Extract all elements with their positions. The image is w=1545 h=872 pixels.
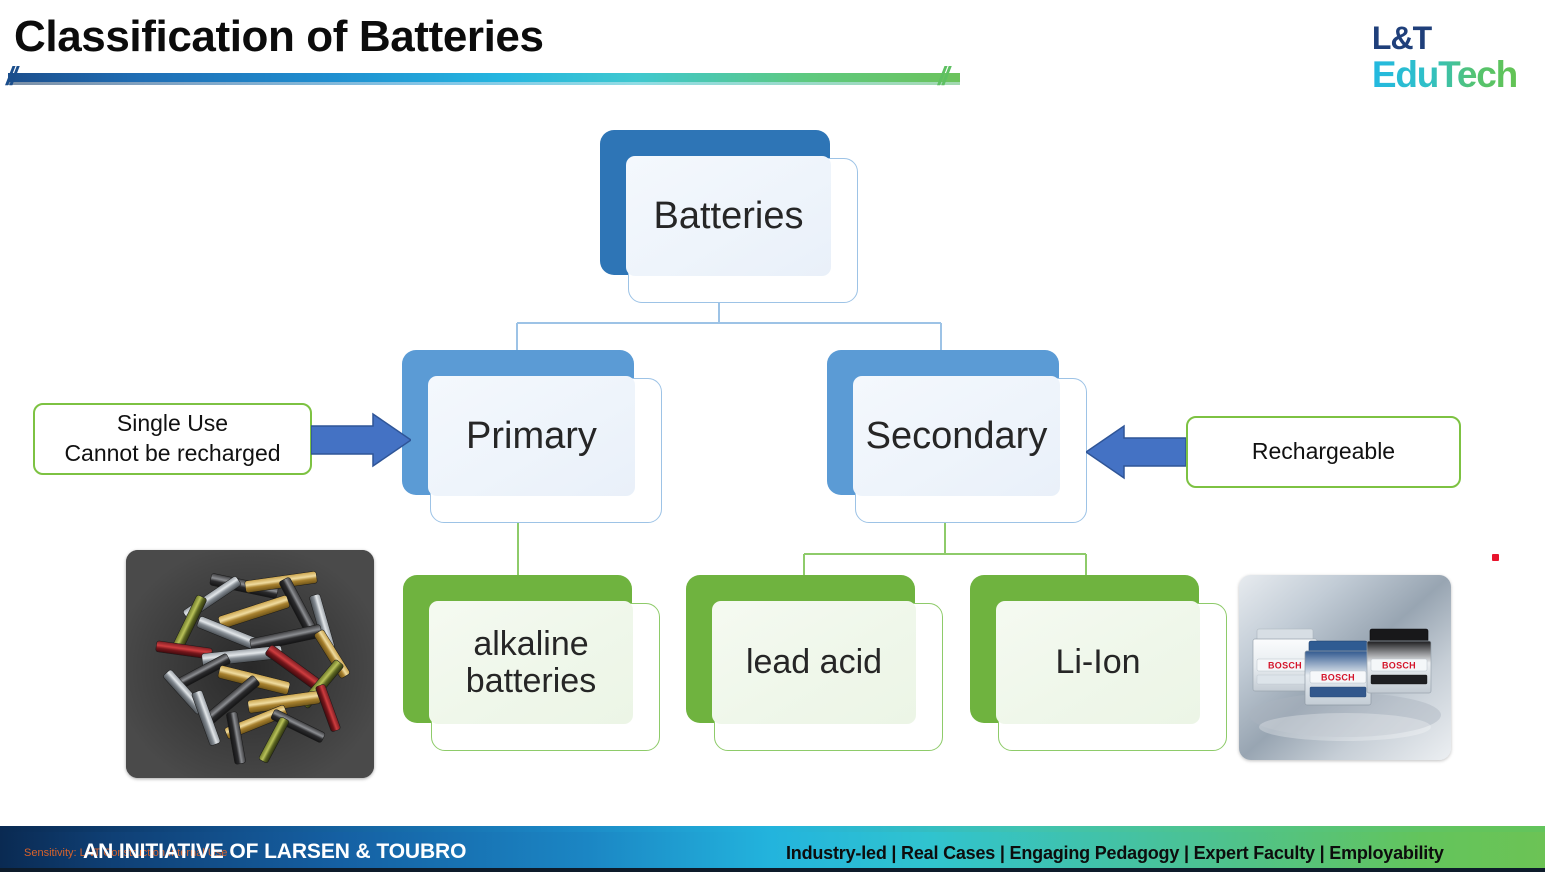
rule-tick-left-icon: // — [6, 63, 14, 89]
callout-single-use-line2: Cannot be recharged — [64, 439, 280, 469]
node-leadacid-label: lead acid — [712, 601, 916, 724]
svg-text:BOSCH: BOSCH — [1268, 661, 1302, 671]
logo-lt-text: L&T — [1372, 22, 1517, 54]
node-alkaline-label: alkaline batteries — [429, 601, 633, 724]
rule-tick-right-icon: // — [938, 63, 946, 89]
image-bosch-car-batteries: BOSCH BOSCH BOSCH — [1239, 575, 1451, 760]
svg-text:BOSCH: BOSCH — [1321, 673, 1355, 683]
node-liion-label: Li-Ion — [996, 601, 1200, 724]
node-secondary-label: Secondary — [853, 376, 1060, 496]
lt-edutech-logo: L&T EduTech — [1372, 22, 1517, 93]
callout-rechargeable-line1: Rechargeable — [1252, 437, 1395, 467]
node-batteries-label: Batteries — [626, 156, 831, 276]
node-primary-label: Primary — [428, 376, 635, 496]
title-underline-bar — [8, 73, 960, 82]
slide-canvas: Classification of Batteries // // L&T Ed… — [0, 0, 1545, 872]
footer-bar: Sensitivity: LNT Construction Internal U… — [0, 832, 1545, 872]
footer-taglines-label: Industry-led | Real Cases | Engaging Ped… — [786, 843, 1444, 864]
arrow-left-icon — [1086, 423, 1186, 481]
footer-initiative-label: AN INITIATIVE OF LARSEN & TOUBRO — [83, 840, 466, 864]
footer-bottom-strip — [0, 868, 1545, 872]
logo-edutech-text: EduTech — [1372, 56, 1517, 93]
callout-rechargeable[interactable]: Rechargeable — [1186, 416, 1461, 488]
arrow-right-icon — [311, 412, 411, 468]
callout-single-use-line1: Single Use — [117, 409, 228, 439]
image-aa-batteries-pile — [126, 550, 374, 778]
marker-dot — [1492, 554, 1499, 561]
page-title: Classification of Batteries — [14, 12, 544, 62]
svg-text:BOSCH: BOSCH — [1382, 661, 1416, 671]
callout-single-use[interactable]: Single Use Cannot be recharged — [33, 403, 312, 475]
